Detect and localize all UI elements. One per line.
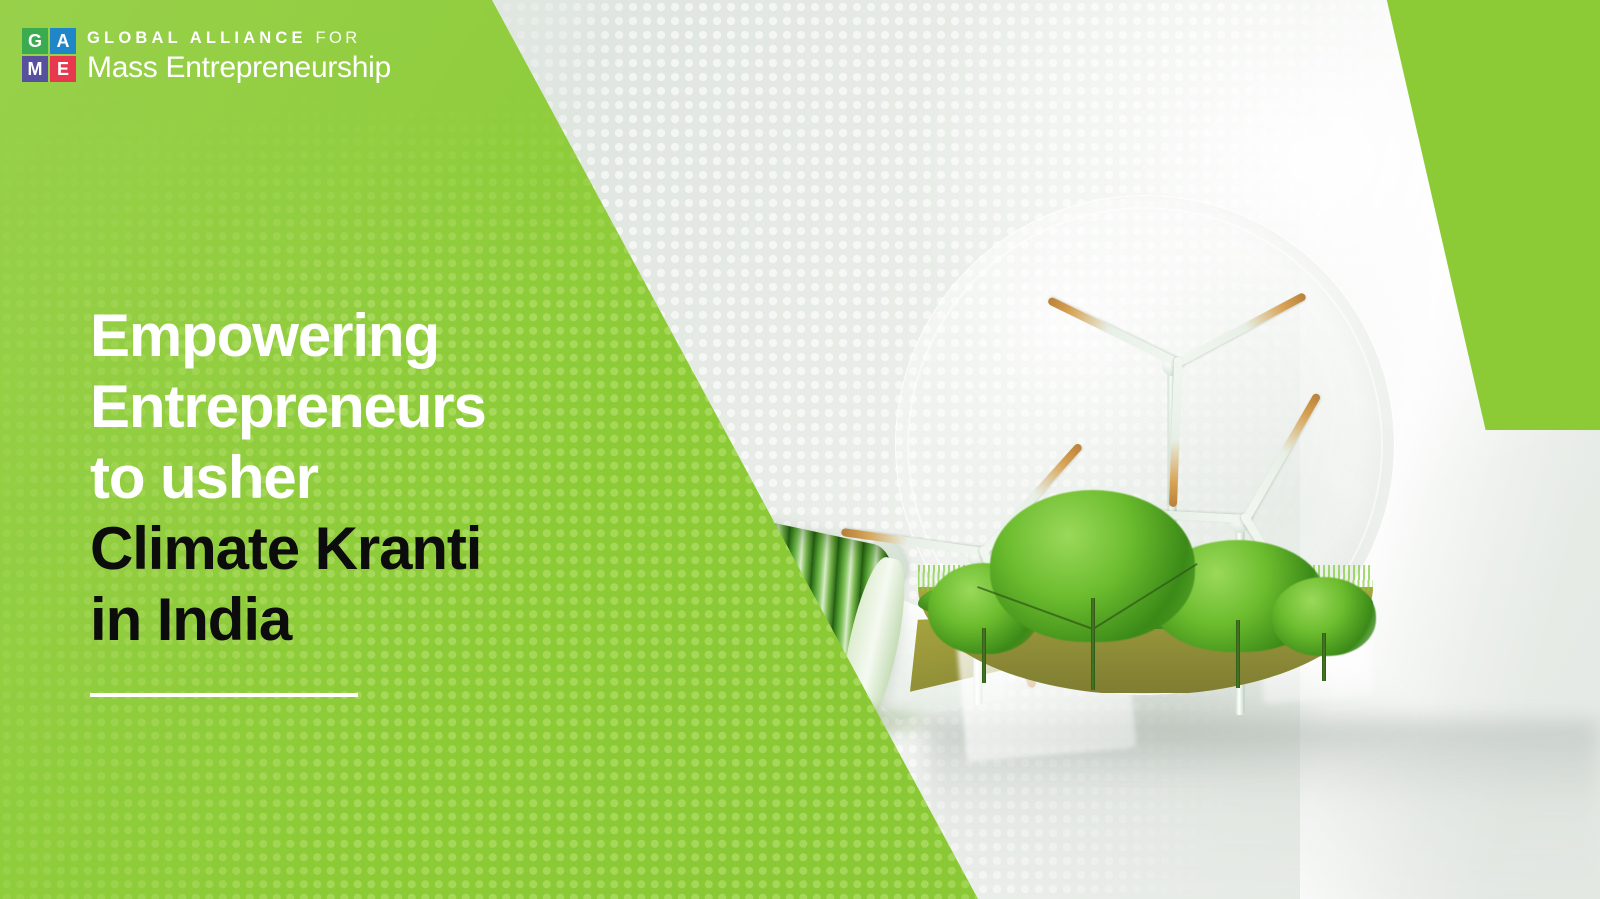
headline-line-2: Entrepreneurs xyxy=(90,371,560,442)
tree-trunk xyxy=(982,628,986,683)
headline-line-4: Climate Kranti xyxy=(90,513,560,584)
logo-wordmark: GLOBAL ALLIANCE FOR Mass Entrepreneurshi… xyxy=(87,28,391,84)
tree-trunk xyxy=(1091,598,1095,690)
headline-underline xyxy=(90,693,358,697)
tree-far xyxy=(1272,577,1376,681)
logo-tile-g: G xyxy=(22,28,48,54)
headline-line-1: Empowering xyxy=(90,300,560,371)
tree-trunk xyxy=(1236,620,1240,688)
tree-main xyxy=(990,490,1195,690)
logo-tagline-line: GLOBAL ALLIANCE FOR xyxy=(87,29,391,48)
logo-tile-m: M xyxy=(22,56,48,82)
tree-trunk xyxy=(1322,633,1326,681)
game-logo[interactable]: G A M E GLOBAL ALLIANCE FOR Mass Entrepr… xyxy=(22,28,391,84)
logo-tile-e: E xyxy=(50,56,76,82)
logo-tagline-strong: GLOBAL ALLIANCE xyxy=(87,29,307,47)
logo-name: Mass Entrepreneurship xyxy=(87,51,391,84)
game-logo-tiles: G A M E xyxy=(22,28,76,82)
logo-tagline-light: FOR xyxy=(316,29,361,47)
headline-line-3: to usher xyxy=(90,442,560,513)
page-title: Empowering Entrepreneurs to usher Climat… xyxy=(90,300,560,655)
headline-line-5: in India xyxy=(90,584,560,655)
logo-tile-a: A xyxy=(50,28,76,54)
banner-canvas: G A M E GLOBAL ALLIANCE FOR Mass Entrepr… xyxy=(0,0,1600,899)
